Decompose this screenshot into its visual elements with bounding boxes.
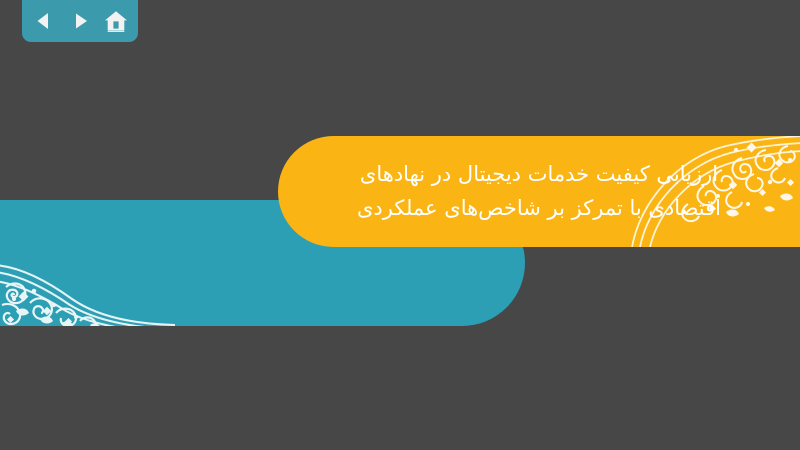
presentation-slide: ارزیابی کیفیت خدمات دیجیتال در نهادهای ا…: [0, 0, 800, 450]
triangle-right-icon: [69, 10, 91, 32]
triangle-left-icon: [33, 10, 55, 32]
home-button[interactable]: [101, 6, 131, 36]
home-icon: [103, 8, 129, 34]
back-button[interactable]: [29, 6, 59, 36]
forward-button[interactable]: [65, 6, 95, 36]
title-line-2: اقتصادی با تمرکز بر شاخص‌های عملکردی: [357, 191, 721, 225]
slide-title: ارزیابی کیفیت خدمات دیجیتال در نهادهای ا…: [278, 136, 800, 247]
navigation-bar: [22, 0, 138, 42]
arabesque-corner-ornament: [0, 231, 175, 326]
title-line-1: ارزیابی کیفیت خدمات دیجیتال در نهادهای: [360, 157, 718, 191]
title-banner: ارزیابی کیفیت خدمات دیجیتال در نهادهای ا…: [278, 136, 800, 247]
